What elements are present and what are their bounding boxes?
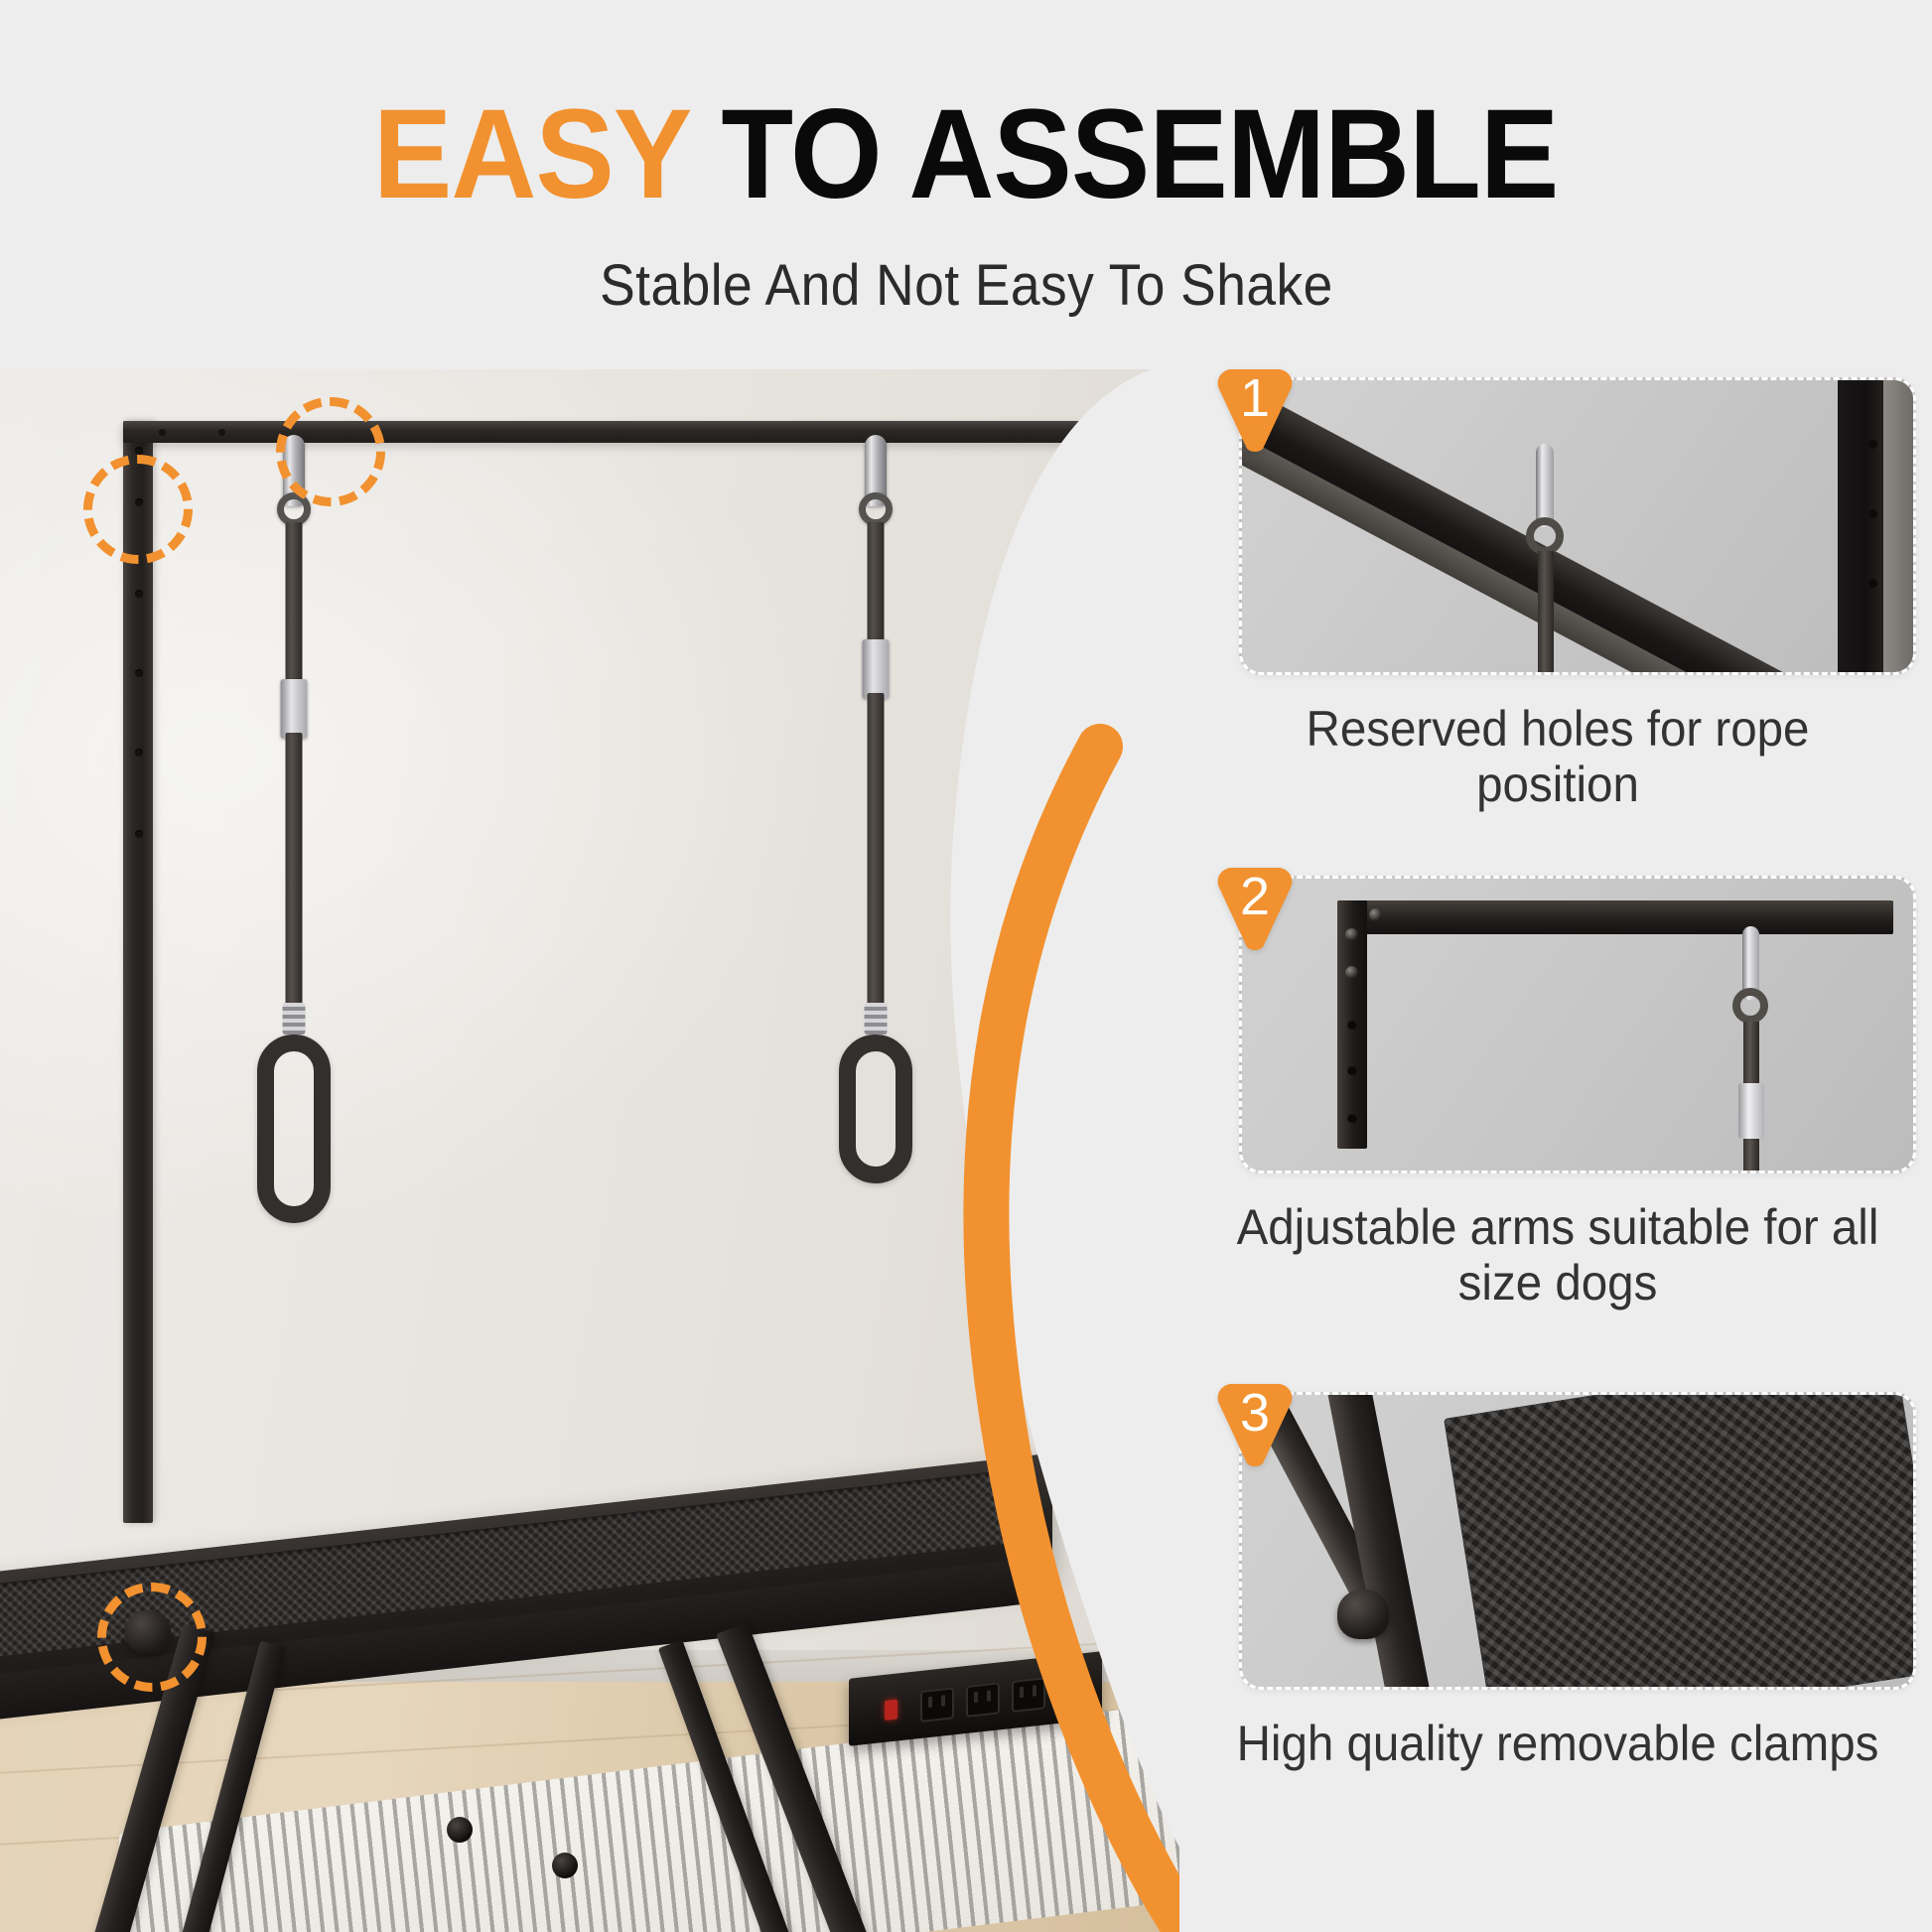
leg-pivot-bolt xyxy=(447,1817,473,1843)
reserved-hole-icon xyxy=(1868,440,1877,449)
power-outlet-icon xyxy=(966,1682,1000,1718)
bracket-rivet-icon xyxy=(1345,966,1358,979)
clip-ring-icon xyxy=(859,492,893,526)
hook-ring-icon xyxy=(1732,988,1768,1024)
strap-ferrule xyxy=(865,1003,888,1035)
strap-slider xyxy=(1738,1083,1764,1139)
callout-card-3: 3 High quality removable clamps xyxy=(1197,1392,1918,1771)
leg-pivot-bolt xyxy=(552,1853,578,1878)
strap-webbing xyxy=(868,693,885,1007)
callout-column: 1 Reserved holes for rope position 2 Adj… xyxy=(1179,369,1932,1932)
mat-side-art xyxy=(1883,377,1913,675)
page-subtitle: Stable And Not Easy To Shake xyxy=(600,252,1333,319)
mat-edge-art xyxy=(1838,377,1889,675)
swivel-hook-icon xyxy=(1536,444,1554,527)
strap-webbing xyxy=(286,733,303,1007)
header-band: EASY TO ASSEMBLE Stable And Not Easy To … xyxy=(0,0,1932,369)
callout-number-badge-3: 3 xyxy=(1215,1380,1295,1475)
bracket-hole-icon xyxy=(1347,1020,1357,1030)
headline-highlight: EASY xyxy=(373,83,689,225)
usb-port-icon xyxy=(1059,1676,1075,1689)
callout-number-badge-2: 2 xyxy=(1215,864,1295,959)
clamp-knob-icon xyxy=(1337,1589,1389,1639)
callout-image-2 xyxy=(1239,876,1916,1173)
power-outlet-icon xyxy=(1012,1677,1045,1713)
callout-number-1: 1 xyxy=(1215,371,1295,425)
callout-number-3: 3 xyxy=(1215,1386,1295,1440)
page-title: EASY TO ASSEMBLE xyxy=(373,91,1558,218)
textured-mat-art xyxy=(1444,1392,1916,1690)
callout-number-badge-1: 1 xyxy=(1215,365,1295,461)
callout-card-2: 2 Adjustable arms suitable for all size … xyxy=(1197,876,1918,1311)
hook-ring-icon xyxy=(1526,517,1564,555)
bracket-hole-icon xyxy=(1347,1113,1357,1123)
headline-rest: TO ASSEMBLE xyxy=(690,83,1559,225)
callout-caption-1: Reserved holes for rope position xyxy=(1215,701,1900,812)
hook-attachment-highlight xyxy=(276,397,385,506)
callout-image-3 xyxy=(1239,1392,1916,1690)
reserved-hole-highlight xyxy=(83,455,193,564)
power-switch-icon xyxy=(885,1700,897,1721)
strap-slider xyxy=(863,639,890,699)
power-outlet-icon xyxy=(920,1687,954,1723)
grooming-loop-strap-left xyxy=(234,435,353,1299)
callout-number-2: 2 xyxy=(1215,870,1295,923)
bracket-rivet-icon xyxy=(1369,908,1382,921)
strap-loop xyxy=(257,1035,331,1223)
main-product-photo xyxy=(0,369,1179,1932)
grooming-loop-strap-right xyxy=(816,435,935,1249)
usb-port-icon xyxy=(1059,1692,1075,1705)
reserved-hole-icon xyxy=(1868,509,1877,518)
clamp-knob-highlight xyxy=(97,1583,207,1692)
bracket-hole-icon xyxy=(1347,1065,1357,1075)
bracket-rivet-icon xyxy=(1345,928,1358,941)
callout-image-1 xyxy=(1239,377,1916,675)
strap-slider xyxy=(281,679,308,739)
strap-ferrule xyxy=(283,1003,306,1035)
callout-card-1: 1 Reserved holes for rope position xyxy=(1197,377,1918,812)
reserved-hole-icon xyxy=(1868,579,1877,588)
bracket-top-art xyxy=(1337,900,1893,934)
strap-loop xyxy=(839,1035,912,1183)
callout-caption-3: High quality removable clamps xyxy=(1215,1716,1900,1771)
hook-strap-art xyxy=(1538,551,1554,675)
vertical-grooming-post xyxy=(123,421,153,1523)
callout-caption-2: Adjustable arms suitable for all size do… xyxy=(1215,1199,1900,1311)
